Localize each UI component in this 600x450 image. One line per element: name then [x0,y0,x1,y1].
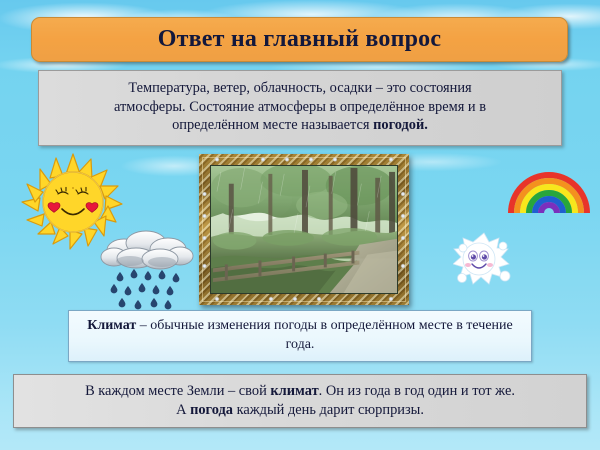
weather-line-3-prefix: определённом месте называется [172,117,373,133]
weather-definition-text: Температура, ветер, облачность, осадки –… [114,79,486,136]
summary-term-klimat: климат [270,383,318,399]
weather-line-2: атмосферы. Состояние атмосферы в определ… [114,99,486,115]
summary-term-pogoda: погода [190,402,233,418]
rain-cloud-icon [100,228,195,310]
climate-definition-text: Климат – обычные изменения погоды в опре… [81,317,519,354]
slide-canvas: Ответ на главный вопрос Температура, вет… [0,0,600,450]
rainy-park-photo [210,165,398,294]
climate-definition-box: Климат – обычные изменения погоды в опре… [68,310,532,362]
framed-photo [199,154,409,305]
summary-box: В каждом месте Земли – свой климат. Он и… [13,374,587,428]
weather-definition-box: Температура, ветер, облачность, осадки –… [38,70,562,146]
page-title: Ответ на главный вопрос [158,26,441,53]
summary-line-2-suffix: каждый день дарит сюрпризы. [233,402,424,418]
rainbow-icon [505,155,593,215]
summary-line-1-suffix: . Он из года в год один и тот же. [319,383,515,399]
weather-term-pogoda: погодой. [373,117,428,133]
snowflake-icon [453,232,515,294]
climate-definition-rest: – обычные изменения погоды в определённо… [136,318,512,352]
slide-title-bar: Ответ на главный вопрос [31,17,568,62]
weather-line-1: Температура, ветер, облачность, осадки –… [128,80,471,96]
summary-line-1-prefix: В каждом месте Земли – свой [85,383,270,399]
climate-term-klimat: Климат [87,318,136,333]
summary-text: В каждом месте Земли – свой климат. Он и… [85,382,515,420]
summary-line-2-prefix: А [176,402,190,418]
